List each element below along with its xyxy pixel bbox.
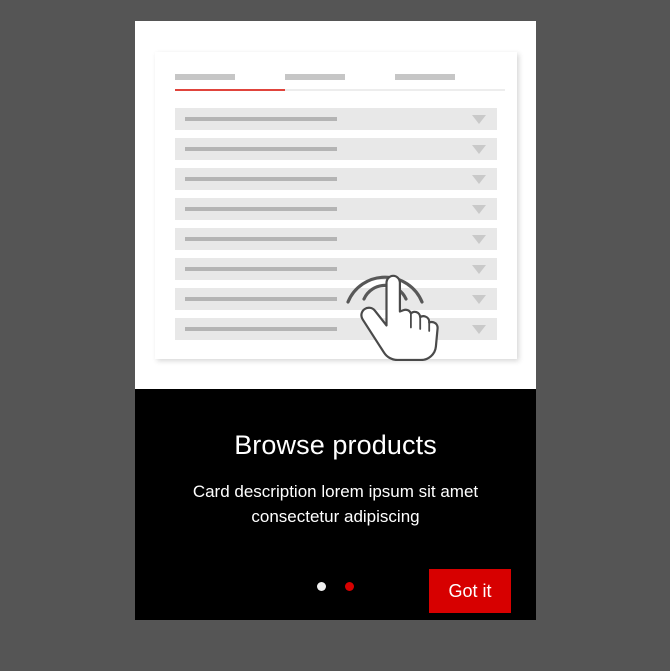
mock-row-text-placeholder bbox=[185, 177, 337, 181]
mock-tab-underline bbox=[395, 89, 505, 91]
got-it-button[interactable]: Got it bbox=[429, 569, 511, 613]
chevron-down-icon[interactable] bbox=[472, 265, 486, 274]
content-panel: Browse products Card description lorem i… bbox=[135, 389, 536, 620]
mock-list-row[interactable] bbox=[175, 138, 497, 160]
pagination-dots bbox=[317, 582, 357, 592]
card-footer: Got it bbox=[135, 562, 536, 620]
mock-row-text-placeholder bbox=[185, 147, 337, 151]
mock-tab-label-placeholder bbox=[285, 74, 345, 80]
chevron-down-icon[interactable] bbox=[472, 325, 486, 334]
mock-row-text-placeholder bbox=[185, 297, 337, 301]
mock-tab-2[interactable] bbox=[395, 74, 505, 96]
onboarding-card: Browse products Card description lorem i… bbox=[135, 21, 536, 620]
mock-tab-underline-active bbox=[175, 89, 285, 91]
mock-tab-label-placeholder bbox=[395, 74, 455, 80]
mock-row-text-placeholder bbox=[185, 117, 337, 121]
mock-row-text-placeholder bbox=[185, 267, 337, 271]
card-description: Card description lorem ipsum sit amet co… bbox=[163, 479, 508, 529]
chevron-down-icon[interactable] bbox=[472, 115, 486, 124]
mock-row-list bbox=[175, 108, 497, 348]
card-title: Browse products bbox=[135, 429, 536, 461]
mock-tab-0[interactable] bbox=[175, 74, 285, 96]
mock-list-row[interactable] bbox=[175, 168, 497, 190]
mock-list-row[interactable] bbox=[175, 288, 497, 310]
mock-tab-label-placeholder bbox=[175, 74, 235, 80]
pagination-dot-2[interactable] bbox=[345, 582, 354, 591]
mock-tab-underline bbox=[285, 89, 395, 91]
mock-row-text-placeholder bbox=[185, 207, 337, 211]
mock-list-row[interactable] bbox=[175, 318, 497, 340]
mock-product-list-card bbox=[155, 52, 517, 359]
chevron-down-icon[interactable] bbox=[472, 145, 486, 154]
mock-tab-1[interactable] bbox=[285, 74, 395, 96]
mock-row-text-placeholder bbox=[185, 327, 337, 331]
illustration-area bbox=[135, 21, 536, 389]
mock-list-row[interactable] bbox=[175, 108, 497, 130]
mock-row-text-placeholder bbox=[185, 237, 337, 241]
mock-list-row[interactable] bbox=[175, 198, 497, 220]
chevron-down-icon[interactable] bbox=[472, 175, 486, 184]
chevron-down-icon[interactable] bbox=[472, 205, 486, 214]
mock-tab-bar bbox=[175, 74, 505, 96]
pagination-dot-1[interactable] bbox=[317, 582, 326, 591]
mock-list-row[interactable] bbox=[175, 258, 497, 280]
chevron-down-icon[interactable] bbox=[472, 235, 486, 244]
chevron-down-icon[interactable] bbox=[472, 295, 486, 304]
mock-list-row[interactable] bbox=[175, 228, 497, 250]
